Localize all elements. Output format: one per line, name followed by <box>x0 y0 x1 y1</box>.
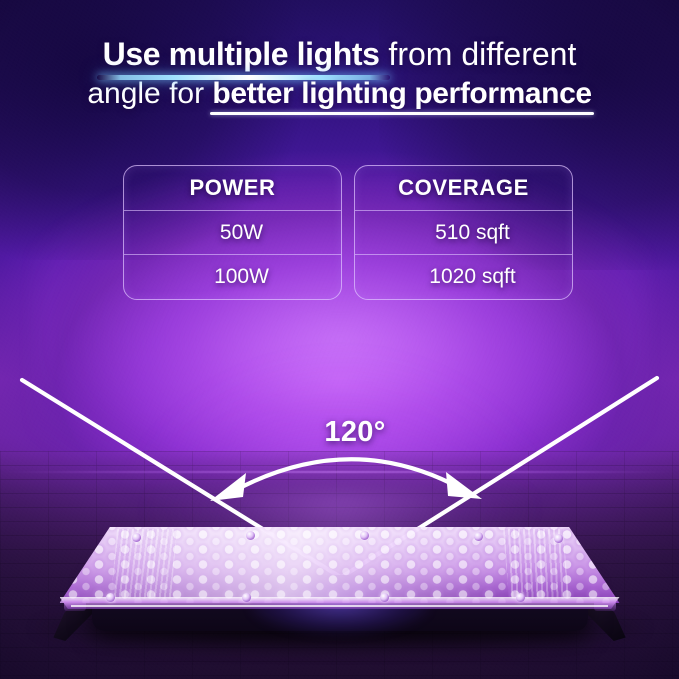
screw-icon <box>106 593 115 602</box>
screw-icon <box>242 593 251 602</box>
headline-line-1: Use multiple lights from different <box>0 38 679 71</box>
screw-icon <box>360 531 369 540</box>
screw-icon <box>516 593 525 602</box>
coverage-table-header: COVERAGE <box>355 166 572 211</box>
headline-underline-cyan: Use multiple lights <box>103 38 380 71</box>
power-table-cell-2: 100W <box>124 255 341 299</box>
coverage-table-cell-1: 510 sqft <box>355 211 572 256</box>
power-table-header: POWER <box>124 166 341 211</box>
headline-line-2-bold: better lighting performance <box>212 77 591 110</box>
power-table-cell-1: 50W <box>124 211 341 256</box>
screw-icon <box>554 534 563 543</box>
lens-specular-sheen <box>60 527 620 603</box>
beam-angle-label: 120° <box>310 416 400 449</box>
power-table: POWER 50W 100W <box>123 165 342 300</box>
headline-underline-white: better lighting performance <box>212 78 591 109</box>
coverage-table-cell-2: 1020 sqft <box>355 255 572 299</box>
screw-icon <box>380 593 389 602</box>
lens-rim-line <box>71 605 609 607</box>
floor-horizon-line <box>0 471 679 473</box>
headline-line-1-bold: Use multiple lights <box>103 36 380 72</box>
screw-icon <box>246 531 255 540</box>
screw-icon <box>132 533 141 542</box>
headline-line-1-regular: from different <box>380 36 577 72</box>
lens-front-rim <box>60 597 620 609</box>
screw-icon <box>474 532 483 541</box>
coverage-table: COVERAGE 510 sqft 1020 sqft <box>354 165 573 300</box>
spec-tables: POWER 50W 100W COVERAGE 510 sqft 1020 sq… <box>123 165 573 300</box>
led-flood-light <box>60 519 620 637</box>
product-marketing-image: Use multiple lights from different angle… <box>0 0 679 679</box>
headline-line-2-regular: angle for <box>87 77 212 110</box>
headline-line-2: angle for better lighting performance <box>0 78 679 109</box>
headline: Use multiple lights from different angle… <box>0 38 679 109</box>
